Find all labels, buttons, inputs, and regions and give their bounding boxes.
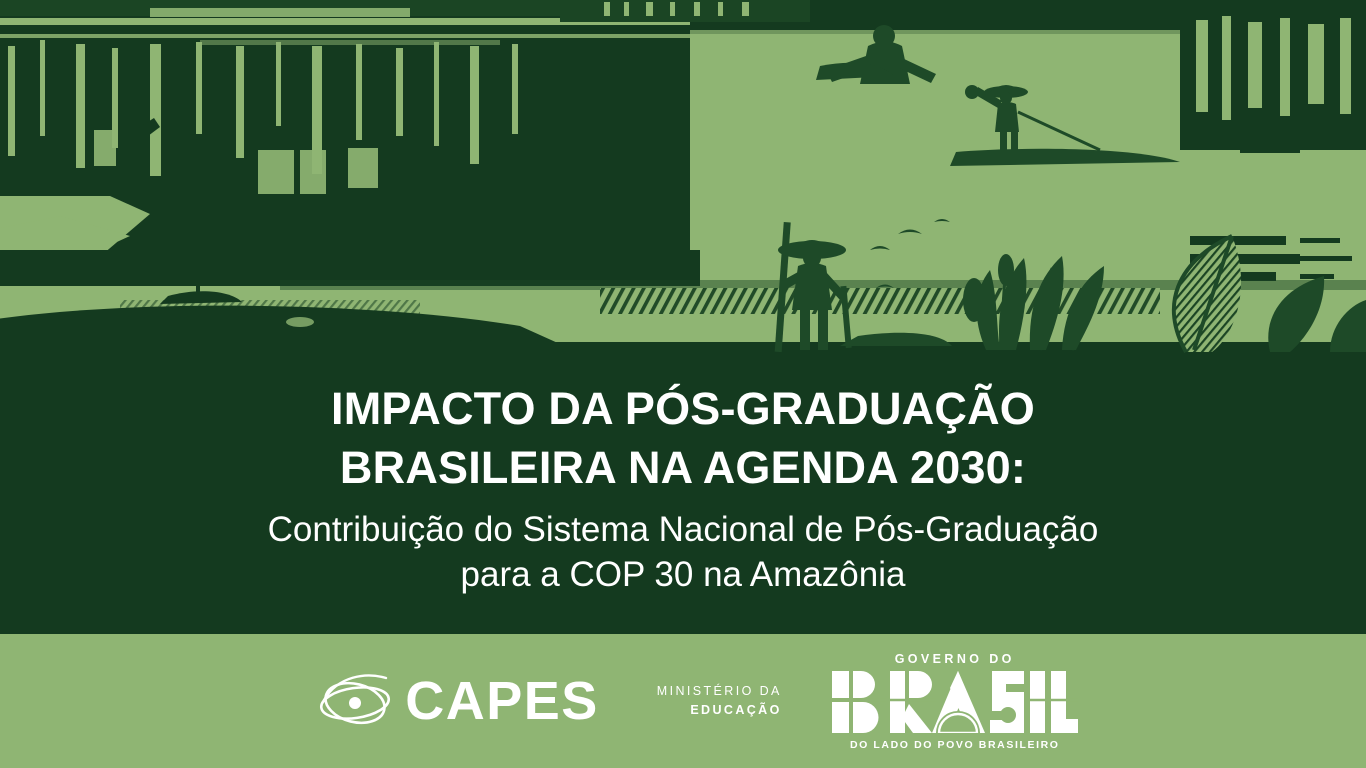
subtitle-block: Contribuição do Sistema Nacional de Pós-… [268,507,1099,598]
ministry-of-education-logo: MINISTÉRIO DA EDUCAÇÃO [657,682,782,721]
right-building-slats [1180,0,1366,153]
government-tagline: DO LADO DO POVO BRASILEIRO [850,739,1060,751]
subtitle-line-2: para a COP 30 na Amazônia [268,552,1099,598]
capes-logo: CAPES [312,670,599,732]
title-band: IMPACTO DA PÓS-GRADUAÇÃO BRASILEIRA NA A… [0,355,1366,634]
capes-atom-orbit-icon [312,670,398,732]
ministry-line-1: MINISTÉRIO DA [657,682,782,701]
presentation-slide: IMPACTO DA PÓS-GRADUAÇÃO BRASILEIRA NA A… [0,0,1366,768]
ministry-line-2: EDUCAÇÃO [690,701,781,720]
title-line-2: BRASILEIRA NA AGENDA 2030: [340,438,1026,497]
brasil-wordmark-icon [832,671,1078,733]
header-illustration [0,0,1366,360]
capes-wordmark: CAPES [405,674,599,728]
government-of-brazil-logo: GOVERNO DO [832,652,1078,751]
title-line-1: IMPACTO DA PÓS-GRADUAÇÃO [331,379,1035,438]
government-label: GOVERNO DO [895,652,1015,666]
footer-logo-band: CAPES MINISTÉRIO DA EDUCAÇÃO GOVERNO DO [0,634,1366,768]
subtitle-line-1: Contribuição do Sistema Nacional de Pós-… [268,507,1099,553]
